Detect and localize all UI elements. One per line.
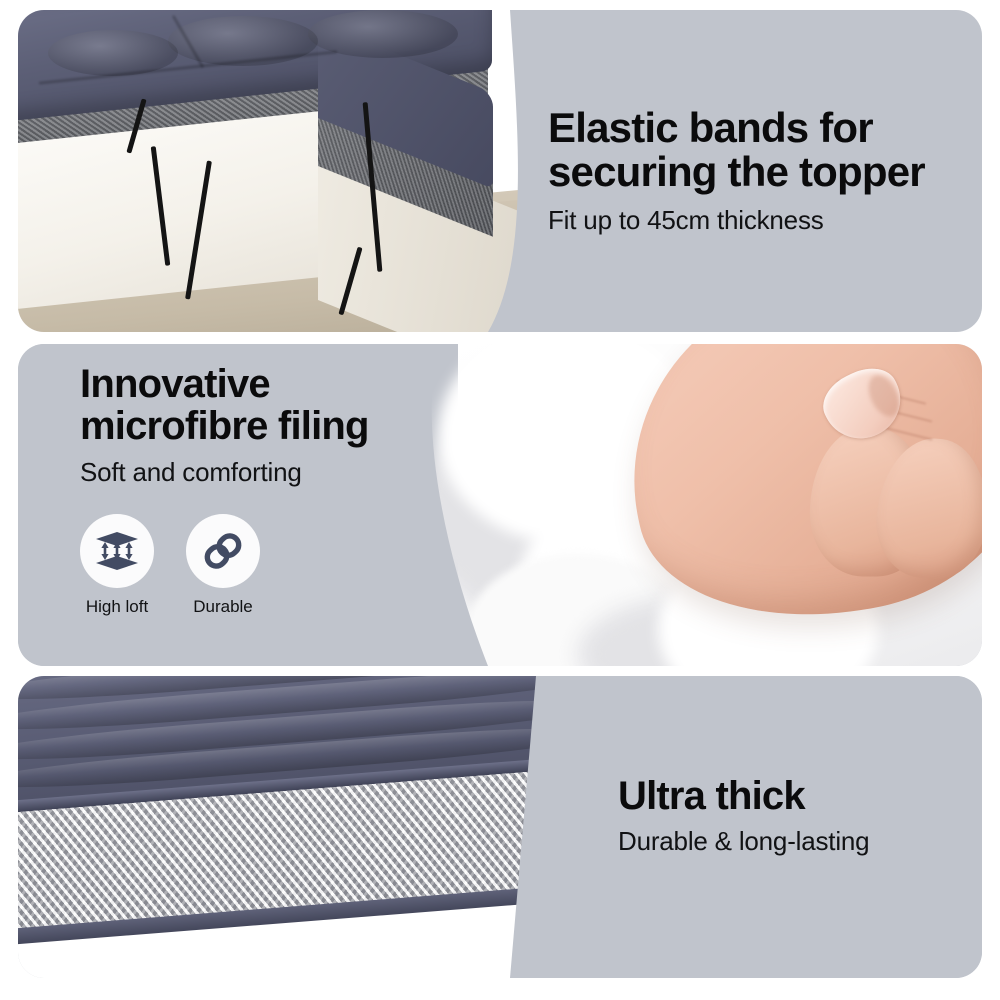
panel-text-block: Innovative microfibre filing Soft and co… [80,364,480,488]
heading-line-1: Elastic bands for [548,106,982,150]
panel-subheading: Fit up to 45cm thickness [548,205,982,236]
panel-text-block: Ultra thick Durable & long-lasting [618,776,982,857]
heading-line-1: Innovative [80,364,480,406]
badge-circle [186,514,260,588]
product-feature-infographic: Elastic bands for securing the topper Fi… [0,0,1000,1000]
feature-panel-microfibre-filling: Innovative microfibre filing Soft and co… [18,344,982,666]
high-loft-icon [94,528,140,574]
chain-link-icon [201,529,245,573]
panel-heading: Innovative microfibre filing [80,364,480,447]
panel-subheading: Durable & long-lasting [618,826,982,857]
panel-heading: Ultra thick [618,776,982,818]
feature-badge-list: High loft Durable [80,514,260,617]
feature-panel-ultra-thick: Ultra thick Durable & long-lasting [18,676,982,978]
feature-panel-elastic-bands: Elastic bands for securing the topper Fi… [18,10,982,332]
badge-circle [80,514,154,588]
panel-heading: Elastic bands for securing the topper [548,106,982,193]
badge-label: High loft [86,597,148,617]
heading-line-2: securing the topper [548,150,982,194]
heading-line-1: Ultra thick [618,776,982,818]
feature-badge-durable: Durable [186,514,260,617]
panel-subheading: Soft and comforting [80,457,480,488]
feature-badge-high-loft: High loft [80,514,154,617]
panel-text-block: Elastic bands for securing the topper Fi… [548,106,982,236]
heading-line-2: microfibre filing [80,406,480,448]
badge-label: Durable [193,597,253,617]
